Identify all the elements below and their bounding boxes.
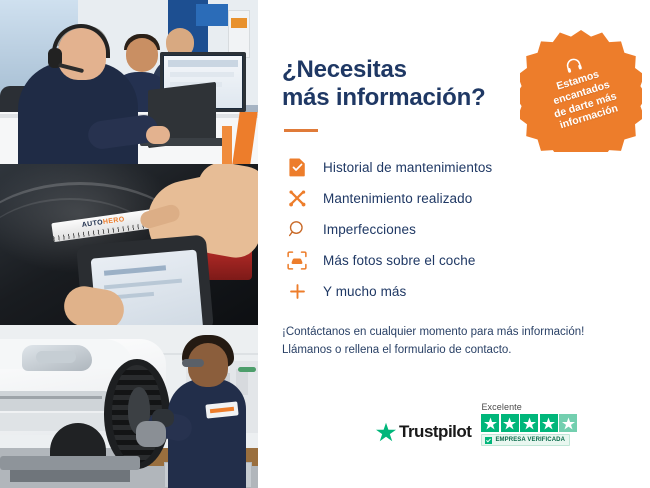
contact-text: ¡Contáctanos en cualquier momento para m… [282, 323, 628, 360]
photo-mechanic-glove [136, 421, 166, 447]
photo-person-2-head [126, 38, 158, 72]
feature-item-imperfections: Imperfecciones [282, 214, 628, 245]
trustpilot-star-2 [501, 414, 519, 432]
content-panel: ¿Necesitas más información? Estamos enca… [258, 0, 650, 488]
feature-label: Mantenimiento realizado [323, 191, 472, 206]
photo-monitor-row-1 [170, 72, 234, 77]
trustpilot-star-4 [540, 414, 558, 432]
magnifier-icon [282, 217, 312, 241]
photo-grille-slat [0, 396, 102, 399]
contact-line-1: ¡Contáctanos en cualquier momento para m… [282, 323, 628, 342]
promo-card: AUTOHERO [0, 0, 650, 488]
page-title-line-2: más información? [282, 84, 486, 111]
feature-label: Historial de mantenimientos [323, 160, 492, 175]
trustpilot-star-icon [376, 422, 396, 442]
trustpilot-rating-label: Excelente [481, 402, 521, 412]
photo-orange-equipment-2 [222, 126, 232, 164]
car-inspection-ruler-photo: AUTOHERO [0, 164, 258, 325]
verified-company-label: EMPRESA VERIFICADA [495, 437, 565, 443]
title-divider [284, 129, 318, 132]
photo-blue-panel-2 [196, 4, 228, 26]
photo-person-1-hand [146, 126, 170, 144]
feature-label: Y mucho más [323, 284, 406, 299]
feature-item-much-more: Y mucho más [282, 276, 628, 307]
trustpilot-star-5 [559, 414, 577, 432]
call-center-agent-photo [0, 0, 258, 164]
photo-car-lift-arm [0, 456, 140, 470]
plus-icon [282, 279, 312, 303]
page-title-line-1: ¿Necesitas [282, 56, 407, 83]
photo-column: AUTOHERO [0, 0, 258, 488]
trustpilot-widget[interactable]: Trustpilot Excelente [376, 402, 577, 446]
photo-monitor-toolbar [168, 60, 238, 67]
trustpilot-stars [481, 414, 577, 432]
photo-headlight-inner [36, 351, 76, 363]
tools-icon [282, 186, 312, 210]
car-scan-icon [282, 248, 312, 272]
trustpilot-wordmark: Trustpilot [399, 422, 471, 442]
trustpilot-star-1 [481, 414, 499, 432]
feature-label: Imperfecciones [323, 222, 416, 237]
verified-company-badge: EMPRESA VERIFICADA [481, 434, 570, 446]
photo-car-grille [0, 391, 110, 411]
feature-item-maintenance-history: Historial de mantenimientos [282, 152, 628, 183]
feature-list: Historial de mantenimientos Mantenimient… [282, 152, 628, 307]
trustpilot-logo: Trustpilot [376, 422, 471, 442]
photo-green-hose [238, 367, 256, 372]
contact-line-2: Llámanos o rellena el formulario de cont… [282, 341, 628, 360]
feature-label: Más fotos sobre el coche [323, 253, 475, 268]
trustpilot-star-3 [520, 414, 538, 432]
photo-safety-glasses-icon [182, 359, 204, 367]
feature-item-more-photos: Más fotos sobre el coche [282, 245, 628, 276]
photo-car-lift-base [10, 470, 130, 482]
mechanic-wheel-photo [0, 325, 258, 488]
verified-check-icon [485, 437, 492, 444]
feature-item-maintenance-done: Mantenimiento realizado [282, 183, 628, 214]
photo-poster-accent [231, 18, 247, 28]
document-check-icon [282, 155, 312, 179]
support-badge: Estamos encantados de darte más informac… [520, 30, 642, 152]
page-title: ¿Necesitas más información? [282, 56, 512, 113]
trustpilot-rating: Excelente [481, 402, 577, 446]
